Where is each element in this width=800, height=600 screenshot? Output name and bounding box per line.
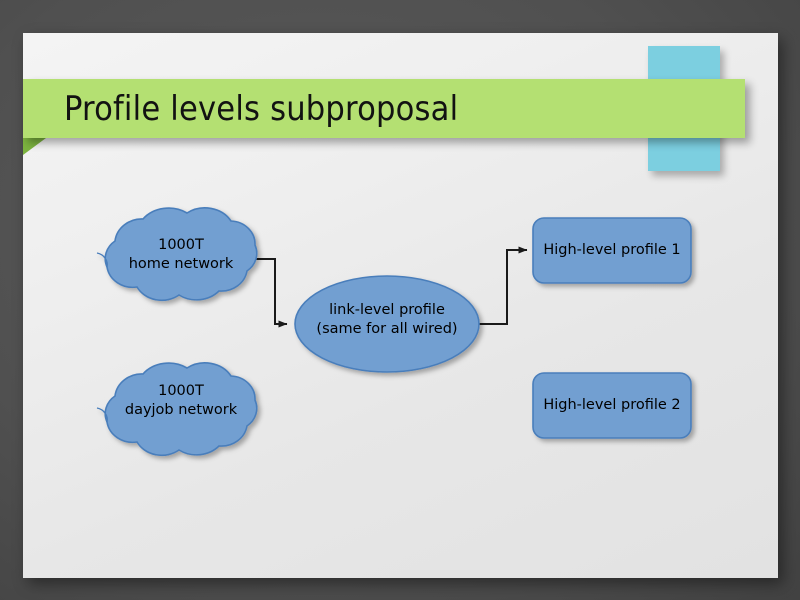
slide-canvas: Profile levels subproposal bbox=[23, 33, 778, 578]
cloud-home-network[interactable] bbox=[97, 208, 257, 300]
page-title: Profile levels subproposal bbox=[64, 83, 724, 135]
banner-fold-icon bbox=[23, 138, 46, 155]
box-high-level-profile-2[interactable] bbox=[533, 373, 691, 438]
ellipse-link-level-profile[interactable] bbox=[295, 276, 479, 372]
cloud-dayjob-network[interactable] bbox=[97, 363, 257, 455]
slide-viewer: Profile levels subproposal bbox=[0, 0, 800, 600]
connector-link-level-to-profile-1 bbox=[472, 250, 527, 324]
box-high-level-profile-1[interactable] bbox=[533, 218, 691, 283]
